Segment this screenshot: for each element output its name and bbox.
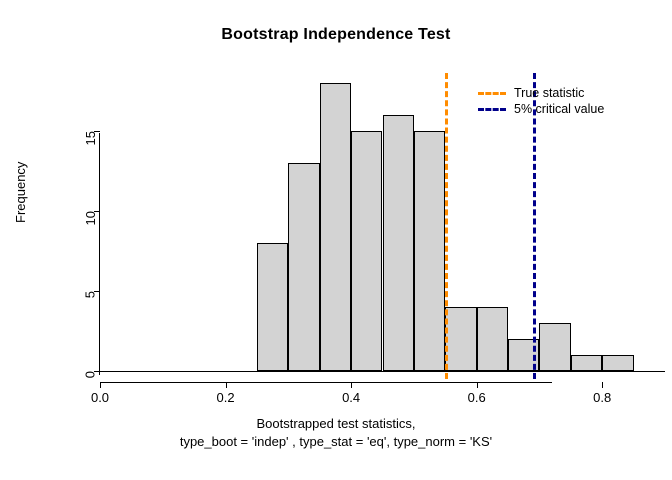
x-axis-tick-label: 0.6 (468, 390, 486, 405)
dashed-line-icon (478, 92, 506, 95)
histogram-bar (414, 131, 445, 371)
y-axis-title: Frequency (13, 162, 28, 223)
histogram-bar (288, 163, 319, 371)
histogram-bar (571, 355, 602, 371)
legend: True statistic 5% critical value (478, 85, 604, 117)
dashed-line-icon (478, 108, 506, 111)
legend-item-true-statistic: True statistic (478, 85, 604, 101)
x-axis-rule (100, 382, 552, 383)
y-axis-tick-label: 5 (83, 291, 98, 298)
histogram-bar (257, 243, 288, 371)
y-axis-tick-label: 0 (83, 371, 98, 378)
legend-label-true-statistic: True statistic (514, 86, 584, 100)
y-axis-tick-label: 15 (83, 131, 98, 145)
y-axis-rule (99, 133, 100, 375)
x-axis-tick (477, 382, 478, 388)
x-axis-tick-label: 0.8 (593, 390, 611, 405)
histogram-bar (477, 307, 508, 371)
histogram-bar (351, 131, 382, 371)
x-axis-tick-label: 0.0 (91, 390, 109, 405)
histogram-bar (320, 83, 351, 371)
x-axis-tick (602, 382, 603, 388)
histogram-bar (602, 355, 633, 371)
x-axis-tick (100, 382, 101, 388)
legend-label-critical-value: 5% critical value (514, 102, 604, 116)
x-axis-tick-label: 0.2 (217, 390, 235, 405)
plot-area (100, 75, 665, 371)
histogram-bar (383, 115, 414, 371)
true-statistic-line (445, 73, 448, 379)
histogram-bar (539, 323, 570, 371)
y-axis-tick-label: 10 (83, 211, 98, 225)
x-axis-title-line1: Bootstrapped test statistics, (0, 415, 672, 433)
critical-value-line (533, 73, 536, 379)
histogram-plot: Bootstrap Independence Test 0.00.20.40.6… (0, 0, 672, 480)
x-axis-tick (226, 382, 227, 388)
y-axis: 051015 (76, 75, 100, 375)
x-axis: 0.00.20.40.60.8 (100, 382, 665, 406)
histogram-bar (445, 307, 476, 371)
x-axis-tick (351, 382, 352, 388)
legend-item-critical-value: 5% critical value (478, 101, 604, 117)
x-axis-line (100, 371, 665, 372)
x-axis-title: Bootstrapped test statistics, type_boot … (0, 415, 672, 451)
x-axis-title-line2: type_boot = 'indep' , type_stat = 'eq', … (0, 433, 672, 451)
x-axis-tick-label: 0.4 (342, 390, 360, 405)
chart-title: Bootstrap Independence Test (0, 26, 672, 44)
